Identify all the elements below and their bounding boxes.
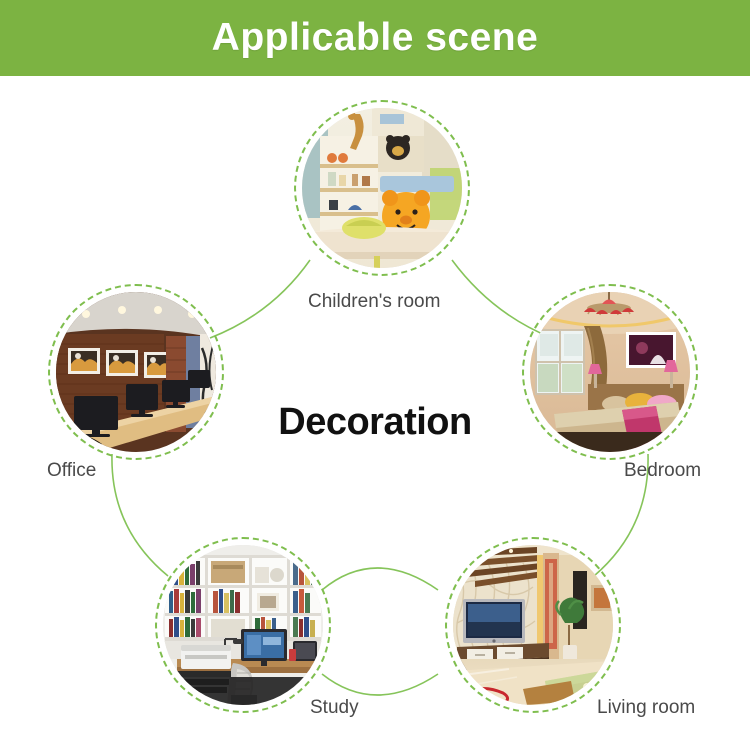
node-label-childrens-room: Children's room (308, 291, 440, 313)
link-study-living-top (322, 568, 438, 590)
dashed-ring (294, 100, 470, 276)
node-label-living-room: Living room (597, 697, 695, 719)
node-study[interactable] (155, 537, 331, 713)
scene-diagram: Children's room (0, 76, 750, 750)
header-banner: Applicable scene (0, 0, 750, 76)
node-living[interactable] (445, 537, 621, 713)
node-label-office: Office (47, 460, 96, 482)
applicable-scene-infographic: Applicable scene (0, 0, 750, 750)
dashed-ring (445, 537, 621, 713)
hub-title: Decoration (0, 401, 750, 444)
node-label-study: Study (310, 697, 359, 719)
dashed-ring (155, 537, 331, 713)
page-title: Applicable scene (212, 16, 539, 60)
link-study-living-bottom (322, 674, 438, 695)
node-childrens-room[interactable] (294, 100, 470, 276)
node-label-bedroom: Bedroom (624, 460, 701, 482)
